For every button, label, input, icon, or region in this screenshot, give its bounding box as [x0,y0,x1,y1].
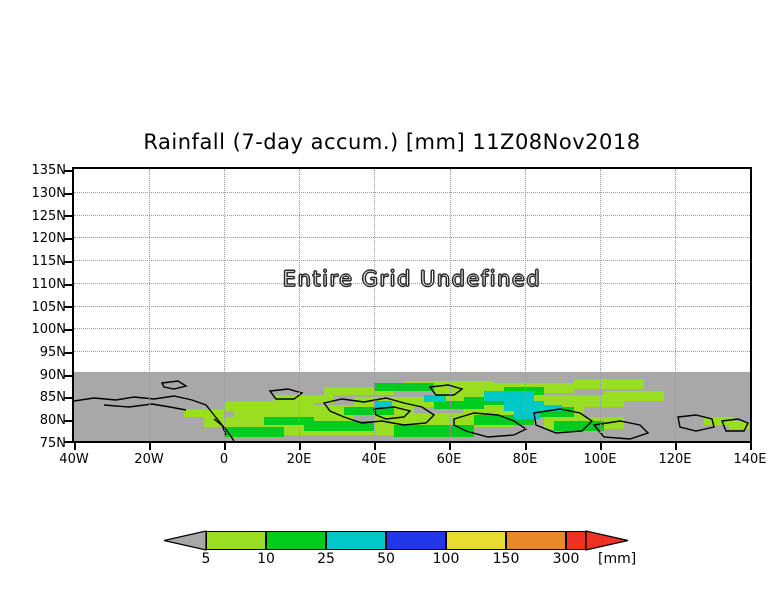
x-tick-mark [525,443,527,450]
y-tick-label: 105N [28,300,66,315]
y-tick-label: 110N [28,277,66,292]
colorbar-tick-label: 50 [363,551,409,567]
y-tick-mark [64,193,72,195]
plot-inner: Entire Grid Undefined [74,169,750,441]
gridline-lon [149,169,150,441]
x-tick-mark [374,443,376,450]
y-tick-mark [64,441,72,443]
colorbar-unit-label: [mm] [598,551,636,567]
x-tick-mark [449,443,451,450]
y-tick-mark [64,215,72,217]
x-tick-label: 80E [495,452,555,467]
y-tick-mark [64,352,72,354]
gridline-lat [74,328,750,329]
y-tick-label: 135N [28,163,66,178]
colorbar-tick-label: 150 [483,551,529,567]
y-tick-label: 125N [28,209,66,224]
colorbar-segment [386,531,446,550]
y-tick-mark [64,170,72,172]
colorbar-tick-label: 5 [183,551,229,567]
colorbar-segment [326,531,386,550]
colorbar-tick-label: 100 [423,551,469,567]
x-tick-label: 40W [44,452,104,467]
x-tick-mark [600,443,602,450]
x-tick-label: 120E [645,452,705,467]
y-tick-mark [64,397,72,399]
y-tick-mark [64,238,72,240]
gridline-lon [299,169,300,441]
x-tick-mark [149,443,151,450]
y-tick-label: 95N [28,345,66,360]
x-tick-label: 20W [119,452,179,467]
x-tick-mark [224,443,226,450]
gridline-lat [74,351,750,352]
gridline-lat [74,215,750,216]
colorbar-segment [566,531,586,550]
y-tick-label: 75N [28,436,66,451]
x-tick-mark [74,443,76,450]
colorbar-high-arrow [586,531,628,550]
y-tick-label: 120N [28,231,66,246]
y-tick-mark [64,329,72,331]
gridline-lon [450,169,451,441]
y-tick-label: 90N [28,368,66,383]
colorbar-tick-label: 25 [303,551,349,567]
colorbar-segment [446,531,506,550]
gridline-lat [74,306,750,307]
rainfall-shading [184,379,749,437]
colorbar-tick-label: 300 [543,551,589,567]
colorbar-segment [266,531,326,550]
y-tick-mark [64,420,72,422]
gridline-lat [74,260,750,261]
gridline-lat [74,237,750,238]
x-tick-mark [299,443,301,450]
plot-area: Entire Grid Undefined [72,167,752,443]
x-tick-label: 140E [720,452,780,467]
x-tick-label: 0 [194,452,254,467]
gridline-lon [374,169,375,441]
colorbar-tick-label: 10 [243,551,289,567]
chart-page: Rainfall (7-day accum.) [mm] 11Z08Nov201… [0,0,784,612]
colorbar-low-arrow [164,531,206,550]
x-tick-label: 40E [344,452,404,467]
y-tick-mark [64,375,72,377]
x-tick-label: 100E [570,452,630,467]
y-tick-mark [64,261,72,263]
chart-title: Rainfall (7-day accum.) [mm] 11Z08Nov201… [0,130,784,154]
x-tick-mark [750,443,752,450]
y-tick-mark [64,306,72,308]
colorbar-segment [206,531,266,550]
y-tick-label: 130N [28,186,66,201]
x-tick-label: 60E [419,452,479,467]
gridline-lon [224,169,225,441]
gridline-lon [600,169,601,441]
gridline-lon [675,169,676,441]
y-tick-label: 85N [28,390,66,405]
colorbar-segment [506,531,566,550]
x-tick-mark [675,443,677,450]
y-tick-label: 100N [28,322,66,337]
x-tick-label: 20E [269,452,329,467]
gridline-lon [525,169,526,441]
y-tick-mark [64,284,72,286]
entire-grid-undefined-label: Entire Grid Undefined [74,267,750,291]
y-tick-label: 80N [28,413,66,428]
gridline-lat [74,192,750,193]
y-tick-label: 115N [28,254,66,269]
